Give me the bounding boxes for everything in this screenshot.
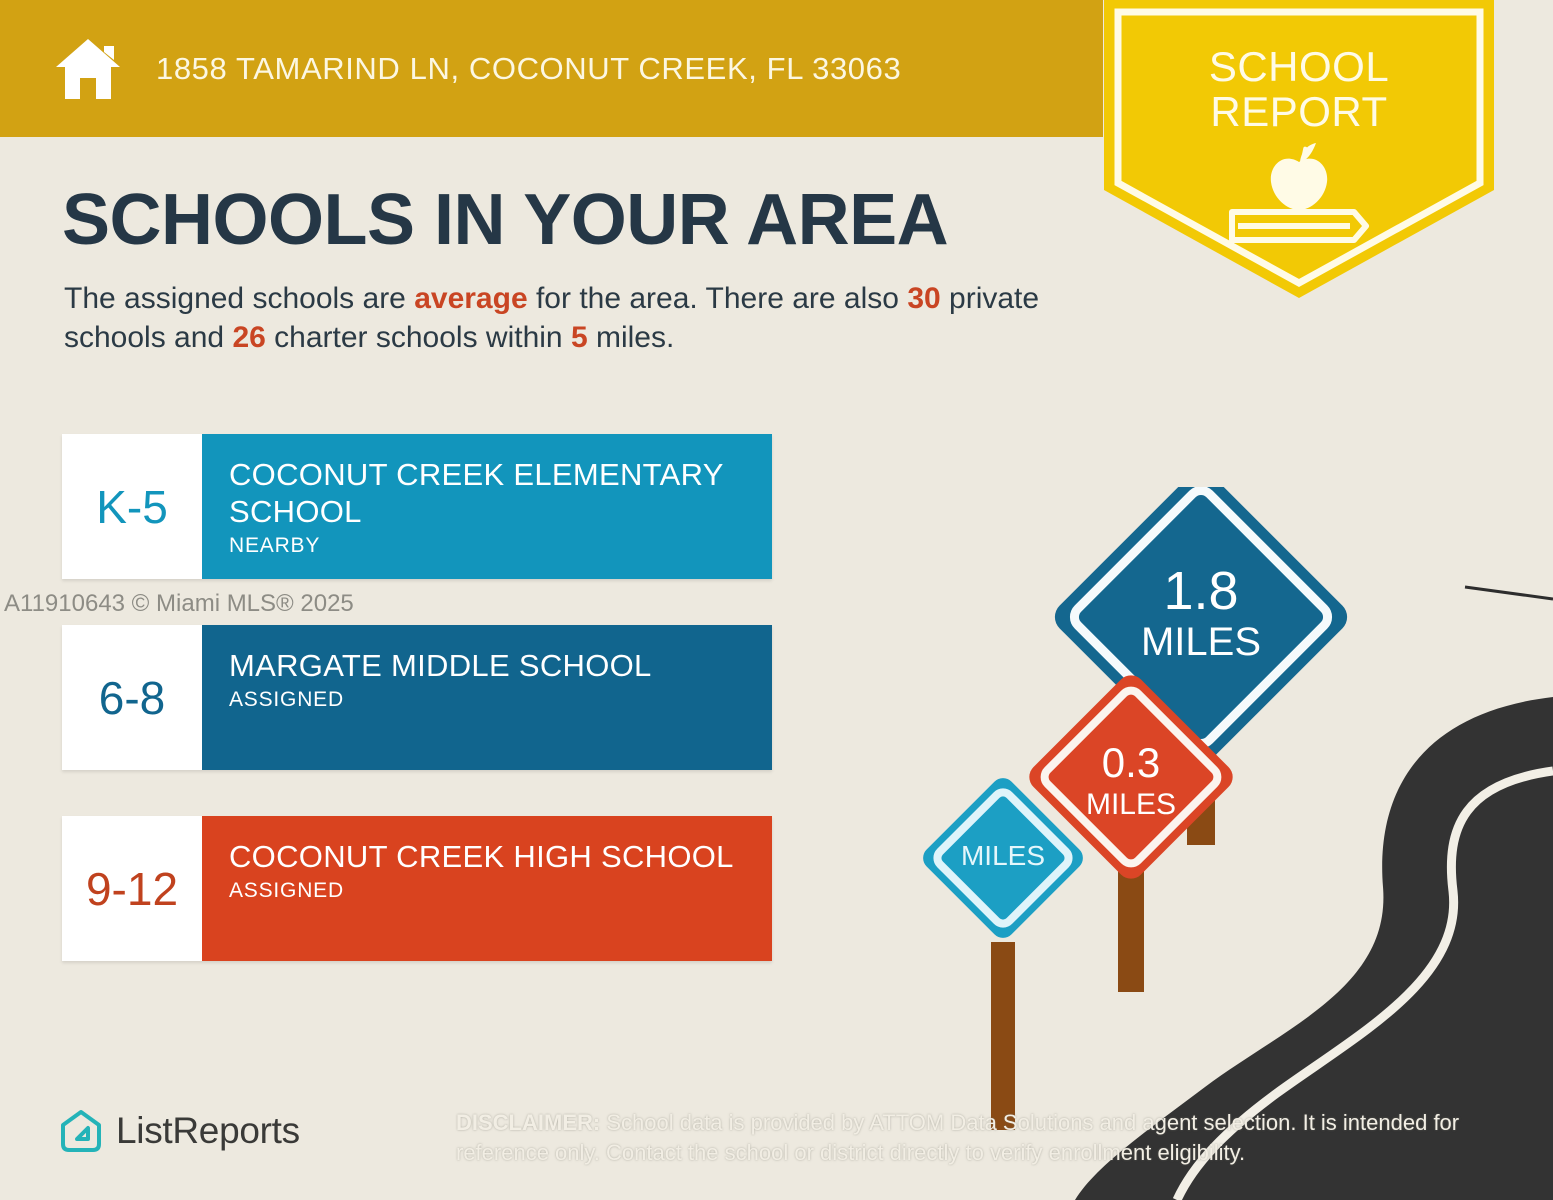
school-status-elementary: NEARBY (229, 534, 772, 558)
home-icon (52, 36, 124, 102)
disclaimer-body: School data is provided by ATTOM Data So… (456, 1110, 1459, 1165)
school-report-badge: SCHOOL REPORT (1104, 0, 1494, 300)
header-address: 1858 TAMARIND LN, COCONUT CREEK, FL 3306… (156, 51, 901, 87)
listreports-logo-text: ListReports (116, 1110, 300, 1152)
road-signs-illustration: 1.8 MILES 0.3 MILES (905, 487, 1553, 1200)
school-status-middle: ASSIGNED (229, 688, 772, 712)
header-bar: 1858 TAMARIND LN, COCONUT CREEK, FL 3306… (0, 0, 1103, 137)
grade-badge-elementary: K-5 (62, 434, 202, 579)
school-name-high: COCONUT CREEK HIGH SCHOOL (229, 838, 772, 875)
school-name-elementary: COCONUT CREEK ELEMENTARY SCHOOL (229, 456, 772, 530)
summary-part-2: for the area. There are also (528, 282, 908, 315)
sign-post-near (991, 942, 1015, 1130)
school-status-high: ASSIGNED (229, 879, 772, 903)
summary-part-5: miles. (588, 321, 675, 354)
distance-sign-near: MILES (918, 773, 1088, 1130)
sign-value-far: 1.8 (1163, 561, 1238, 621)
summary-highlight-private-count: 30 (907, 282, 940, 315)
school-info-elementary: COCONUT CREEK ELEMENTARY SCHOOL NEARBY (202, 434, 772, 579)
school-row-elementary[interactable]: K-5 COCONUT CREEK ELEMENTARY SCHOOL NEAR… (62, 434, 772, 579)
school-row-middle[interactable]: 6-8 MARGATE MIDDLE SCHOOL ASSIGNED (62, 625, 772, 770)
summary-highlight-rating: average (414, 282, 527, 315)
disclaimer-text: DISCLAIMER: School data is provided by A… (456, 1108, 1486, 1168)
summary-text: The assigned schools are average for the… (64, 279, 1099, 357)
page-title: SCHOOLS IN YOUR AREA (62, 183, 948, 257)
summary-part-4: charter schools within (266, 321, 571, 354)
mls-watermark: A11910643 © Miami MLS® 2025 (4, 590, 354, 618)
badge-title-line2: REPORT (1104, 89, 1494, 134)
sign-unit-far: MILES (1141, 620, 1261, 664)
badge-title: SCHOOL REPORT (1104, 44, 1494, 134)
school-row-high[interactable]: 9-12 COCONUT CREEK HIGH SCHOOL ASSIGNED (62, 816, 772, 961)
summary-part-1: The assigned schools are (64, 282, 414, 315)
grade-badge-high: 9-12 (62, 816, 202, 961)
badge-title-line1: SCHOOL (1104, 44, 1494, 89)
summary-highlight-radius: 5 (571, 321, 588, 354)
sign-value-mid: 0.3 (1102, 739, 1160, 786)
school-name-middle: MARGATE MIDDLE SCHOOL (229, 647, 772, 684)
wire-line (1465, 587, 1553, 599)
summary-highlight-charter-count: 26 (232, 321, 265, 354)
sign-unit-mid: MILES (1086, 788, 1176, 821)
sign-unit-near: MILES (961, 840, 1045, 871)
disclaimer-label: DISCLAIMER: (456, 1110, 600, 1135)
grade-badge-middle: 6-8 (62, 625, 202, 770)
school-info-middle: MARGATE MIDDLE SCHOOL ASSIGNED (202, 625, 772, 770)
listreports-house-icon (58, 1108, 104, 1154)
school-info-high: COCONUT CREEK HIGH SCHOOL ASSIGNED (202, 816, 772, 961)
school-list: K-5 COCONUT CREEK ELEMENTARY SCHOOL NEAR… (62, 434, 772, 1007)
listreports-logo[interactable]: ListReports (58, 1108, 300, 1154)
